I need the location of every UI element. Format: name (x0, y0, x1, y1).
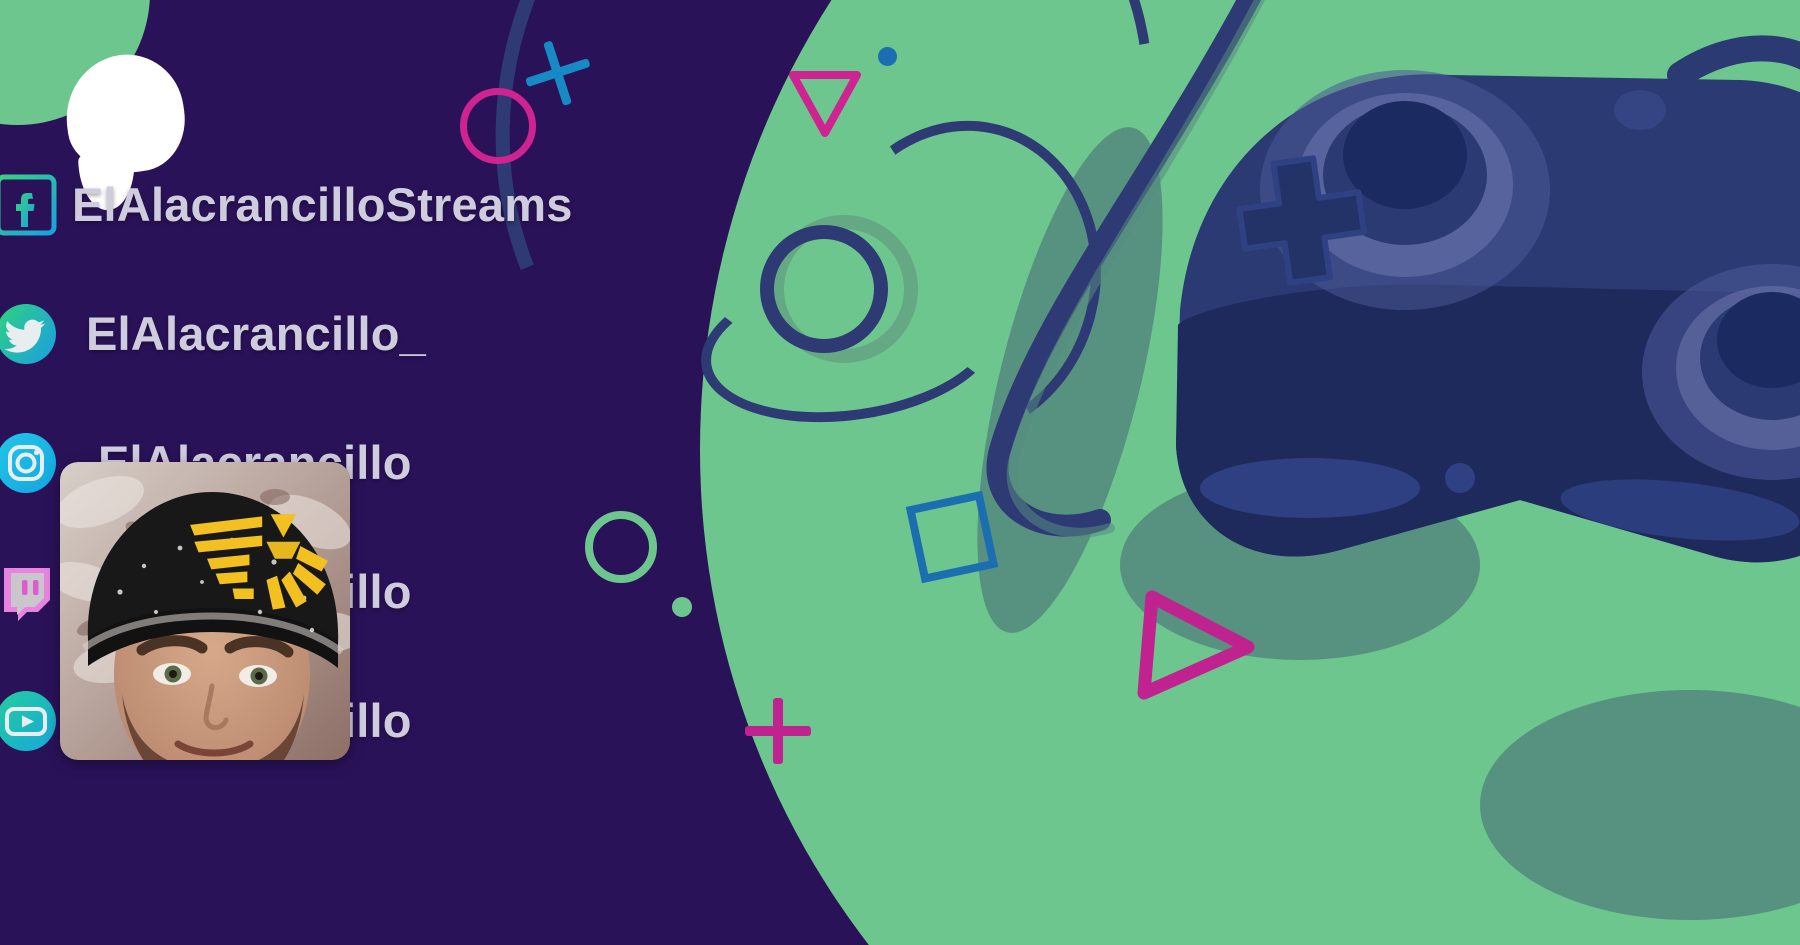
social-row-twitter[interactable]: ElAlacrancillo_ (0, 269, 640, 398)
youtube-icon[interactable] (0, 689, 58, 753)
magenta-triangle-down-icon (786, 68, 864, 140)
twitch-icon[interactable] (0, 560, 58, 624)
magenta-plus-icon (745, 698, 811, 764)
stream-overlay: ElAlacrancilloStreams ElAlacrancillo_ (0, 0, 1800, 945)
webcam-avatar[interactable] (60, 462, 350, 760)
blue-dot-icon (878, 47, 897, 66)
social-row-facebook[interactable]: ElAlacrancilloStreams (0, 140, 640, 269)
facebook-icon[interactable] (0, 173, 58, 237)
blue-square-outline-icon (906, 491, 999, 584)
magenta-play-triangle-icon (1130, 585, 1260, 705)
instagram-icon[interactable] (0, 431, 58, 495)
game-controller-illustration (980, 0, 1800, 680)
green-dot-icon (672, 597, 692, 617)
social-handle-twitter: ElAlacrancillo_ (86, 306, 426, 361)
twitter-icon[interactable] (0, 302, 58, 366)
social-handle-facebook: ElAlacrancilloStreams (72, 177, 573, 232)
